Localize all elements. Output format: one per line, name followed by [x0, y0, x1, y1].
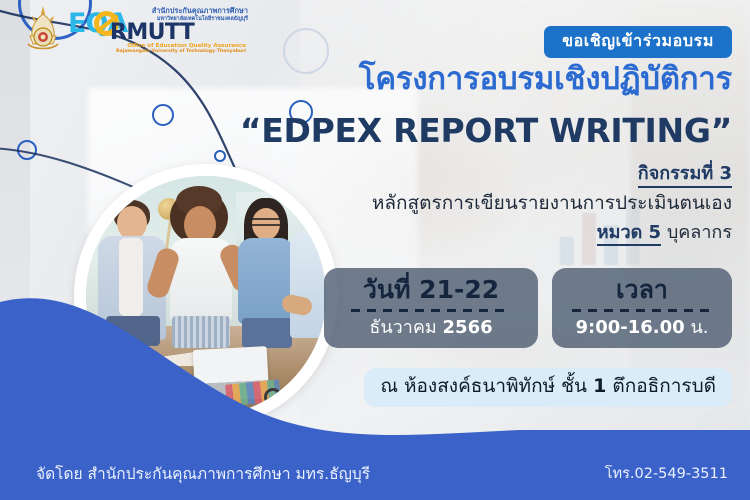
- date-subline: ธันวาคม 2566: [342, 317, 520, 339]
- time-range: 9:00-16.00: [576, 317, 685, 338]
- event-info-row: วันที่ 21-22 ธันวาคม 2566 เวลา 9:00-16.0…: [324, 268, 732, 348]
- event-poster: สำนักประกันคุณภาพการศึกษา มหาวิทยาลัยเทค…: [0, 0, 750, 500]
- page-title-thai: โครงการอบรมเชิงปฏิบัติการ: [359, 60, 732, 99]
- time-box: เวลา 9:00-16.00 น.: [552, 268, 732, 348]
- eqa-rmutt-logo: สำนักประกันคุณภาพการศึกษา มหาวิทยาลัยเทค…: [22, 4, 252, 56]
- category-label: หมวด 5: [597, 222, 661, 246]
- logo-acronym-rmutt: RMUTT: [110, 22, 194, 44]
- date-divider: [351, 309, 511, 312]
- logo-org-eng-line2: Rajamangala University of Technology Tha…: [116, 49, 246, 54]
- time-unit: น.: [690, 317, 708, 338]
- footer-phone: โทร.02-549-3511: [605, 462, 728, 485]
- venue-pill: ณ ห้องสงค์ธนาพิทักษ์ ชั้น 1 ตึกอธิการบดี: [364, 368, 732, 407]
- royal-emblem-icon: [22, 4, 64, 54]
- category-text: บุคลากร: [667, 222, 732, 243]
- course-line: หลักสูตรการเขียนรายงานการประเมินตนเอง: [372, 192, 732, 216]
- footer-organizer: จัดโดย สำนักประกันคุณภาพการศึกษา มทร.ธัญ…: [36, 461, 370, 486]
- date-heading: วันที่ 21-22: [342, 276, 520, 305]
- venue-floor: 1: [593, 375, 606, 397]
- category-line: หมวด 5 บุคลากร: [597, 222, 732, 245]
- venue-prefix: ณ ห้องสงค์ธนาพิทักษ์ ชั้น: [380, 375, 587, 397]
- date-year: 2566: [443, 317, 493, 338]
- activity-label: กิจกรรมที่ 3: [638, 163, 732, 188]
- time-subline: 9:00-16.00 น.: [570, 317, 714, 339]
- time-heading: เวลา: [570, 276, 714, 305]
- page-title-english: “EDPEX REPORT WRITING”: [240, 110, 732, 151]
- date-month: ธันวาคม: [369, 317, 436, 338]
- venue-suffix: ตึกอธิการบดี: [612, 375, 716, 397]
- time-divider: [572, 309, 712, 312]
- date-box: วันที่ 21-22 ธันวาคม 2566: [324, 268, 538, 348]
- invite-badge: ขอเชิญเข้าร่วมอบรม: [544, 26, 732, 58]
